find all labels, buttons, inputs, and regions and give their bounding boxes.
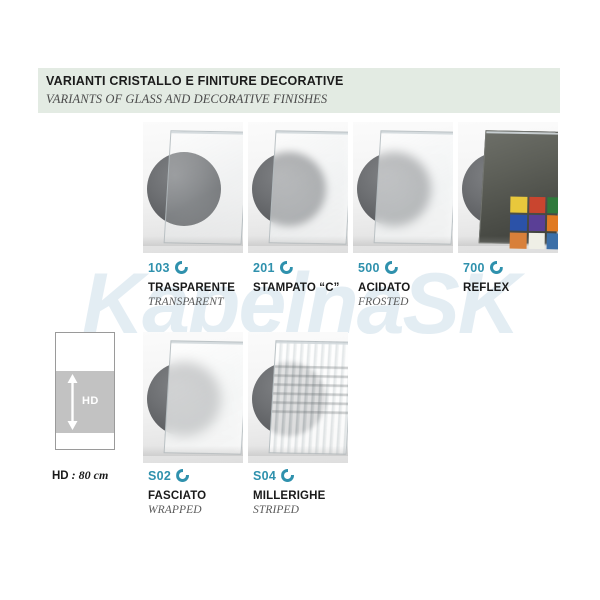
checker-swatch-4 <box>529 215 546 231</box>
sample-code: S04 <box>253 469 276 483</box>
striped-distortion <box>272 366 348 418</box>
sample-label-103: 103 TRASPARENTE TRANSPARENT <box>148 260 235 308</box>
sample-name-italian: REFLEX <box>463 282 509 294</box>
sample-name-italian: FASCIATO <box>148 490 206 502</box>
sample-name-english: FROSTED <box>358 296 410 308</box>
code-row: S02 <box>148 468 206 483</box>
sample-name-english: TRANSPARENT <box>148 296 235 308</box>
section-title-italian: VARIANTI CRISTALLO E FINITURE DECORATIVE <box>46 74 344 88</box>
hd-caption-separator: : <box>69 468 79 482</box>
sample-label-700: 700 REFLEX <box>463 260 509 296</box>
hd-double-arrow-icon <box>67 374 78 430</box>
finish-circle-icon <box>176 469 189 482</box>
photo-table-line <box>143 236 243 246</box>
glass-photo-striped <box>248 332 348 463</box>
hd-caption: HD : 80 cm <box>52 468 108 483</box>
glass-plate-wrapped <box>164 340 243 454</box>
sample-thumb-201[interactable] <box>248 122 348 253</box>
code-row: S04 <box>253 468 325 483</box>
glass-photo-reflex <box>458 122 558 253</box>
sample-name-english: STRIPED <box>253 504 325 516</box>
glass-photo-frosted <box>353 122 453 253</box>
code-row: 700 <box>463 260 509 275</box>
sample-label-500: 500 ACIDATO FROSTED <box>358 260 410 308</box>
finish-circle-icon <box>281 469 294 482</box>
code-row: 500 <box>358 260 410 275</box>
checker-swatch-7 <box>528 233 545 249</box>
sample-label-s02: S02 FASCIATO WRAPPED <box>148 468 206 516</box>
checker-swatch-2 <box>548 197 558 213</box>
section-title-english: VARIANTS OF GLASS AND DECORATIVE FINISHE… <box>46 92 327 107</box>
finish-circle-icon <box>385 261 398 274</box>
sample-thumb-s02[interactable] <box>143 332 243 463</box>
glass-photo-transparent <box>143 122 243 253</box>
checker-swatch-8 <box>547 233 558 249</box>
hd-caption-value: 80 cm <box>79 468 109 482</box>
sample-thumb-s04[interactable] <box>248 332 348 463</box>
photo-table-line <box>143 446 243 456</box>
finish-circle-icon <box>280 261 293 274</box>
sample-label-201: 201 STAMPATO “C” <box>253 260 340 296</box>
hd-band-label: HD <box>82 395 99 407</box>
sample-code: 103 <box>148 261 170 275</box>
glass-plate-printed-c <box>269 130 348 244</box>
glass-plate-striped <box>269 340 348 454</box>
glass-plate-frosted <box>374 130 453 244</box>
finish-circle-icon <box>490 261 503 274</box>
sample-thumb-700[interactable] <box>458 122 558 253</box>
sample-name-italian: TRASPARENTE <box>148 282 235 294</box>
sample-code: 500 <box>358 261 380 275</box>
sample-thumb-500[interactable] <box>353 122 453 253</box>
glass-photo-wrapped <box>143 332 243 463</box>
checker-swatch-3 <box>510 215 527 231</box>
sample-name-italian: ACIDATO <box>358 282 410 294</box>
sample-name-italian: STAMPATO “C” <box>253 282 340 294</box>
sample-name-italian: MILLERIGHE <box>253 490 325 502</box>
sample-code: S02 <box>148 469 171 483</box>
sample-label-s04: S04 MILLERIGHE STRIPED <box>253 468 325 516</box>
color-checker-chart <box>510 197 558 250</box>
section-header-band: VARIANTI CRISTALLO E FINITURE DECORATIVE… <box>38 68 560 113</box>
code-row: 103 <box>148 260 235 275</box>
code-row: 201 <box>253 260 340 275</box>
checker-swatch-1 <box>529 197 546 213</box>
photo-table-line <box>353 236 453 246</box>
sample-thumb-103[interactable] <box>143 122 243 253</box>
sample-code: 700 <box>463 261 485 275</box>
finish-circle-icon <box>175 261 188 274</box>
sample-name-english: WRAPPED <box>148 504 206 516</box>
checker-swatch-5 <box>547 215 558 231</box>
glass-plate-transparent <box>164 130 243 244</box>
checker-swatch-0 <box>510 197 527 213</box>
sample-code: 201 <box>253 261 275 275</box>
glass-photo-printed-c <box>248 122 348 253</box>
photo-table-line <box>248 236 348 246</box>
hd-caption-key: HD <box>52 470 69 482</box>
photo-table-line <box>248 446 348 456</box>
hd-dimension-diagram: HD <box>55 332 115 450</box>
checker-swatch-6 <box>510 233 527 249</box>
